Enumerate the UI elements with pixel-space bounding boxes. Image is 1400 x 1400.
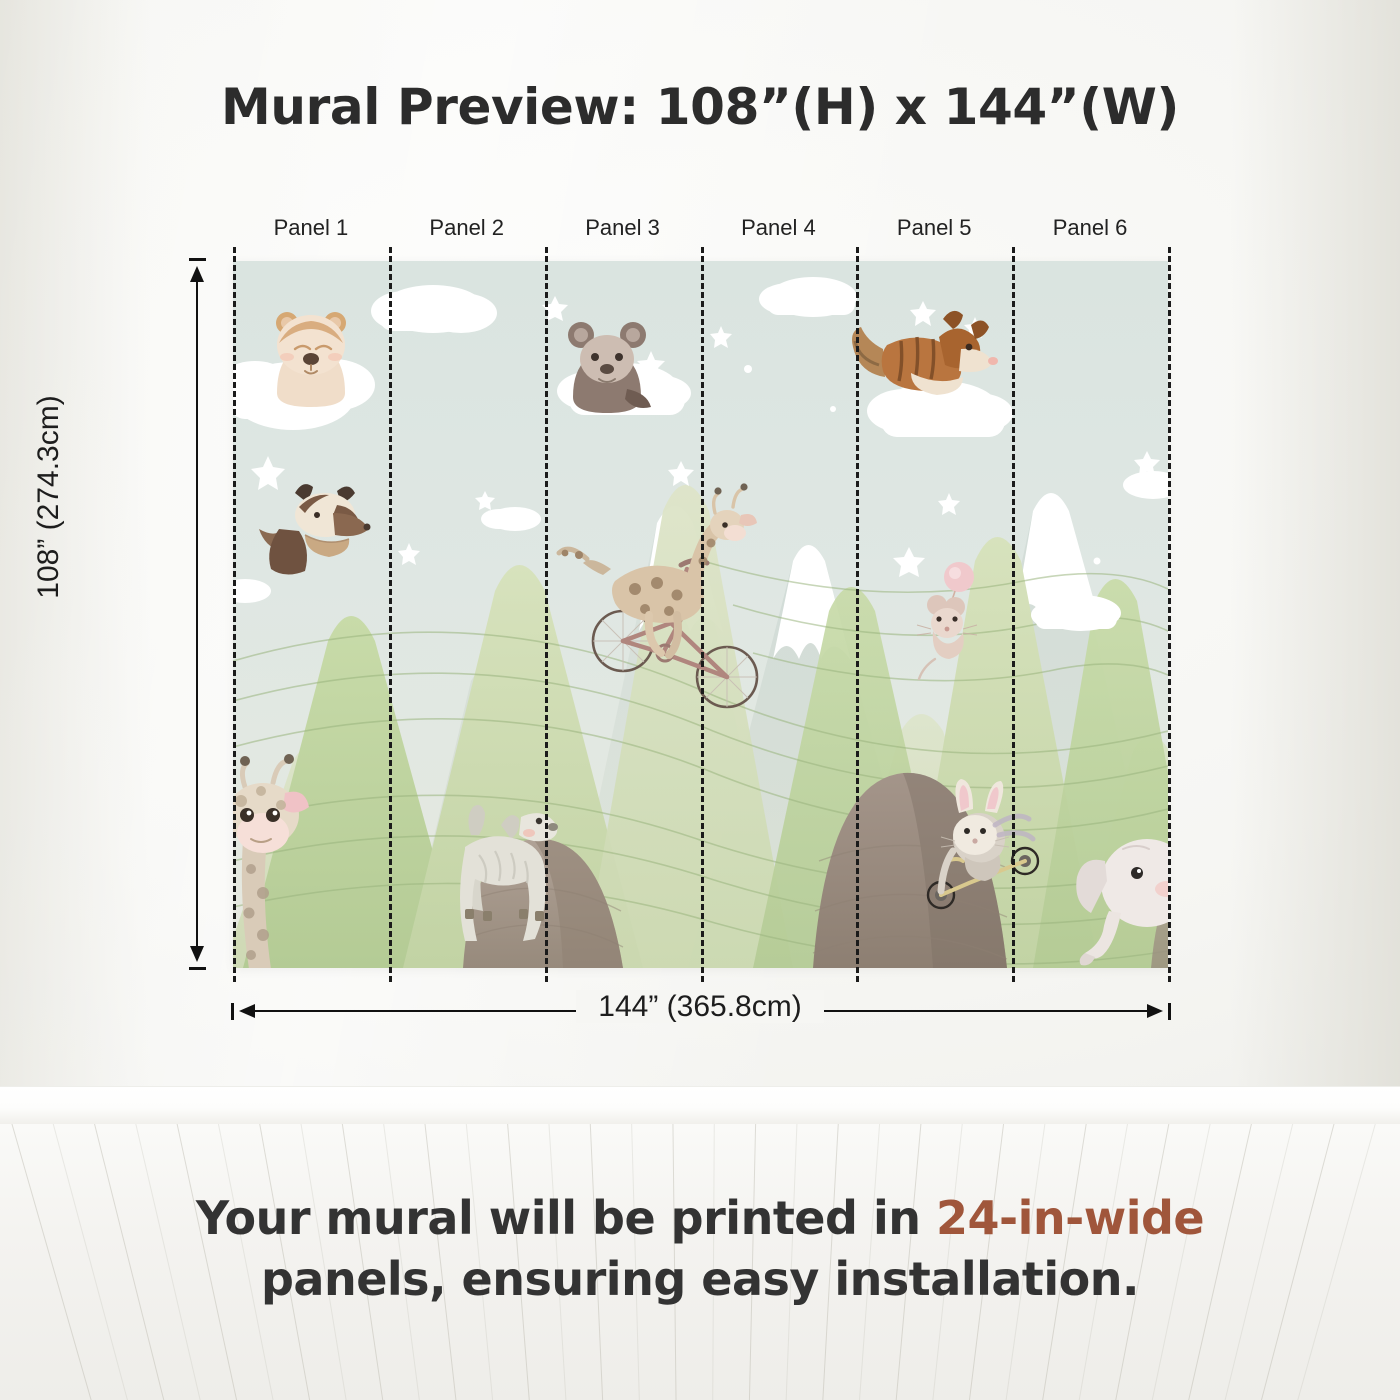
caption-line-1-prefix: Your mural will be printed in: [196, 1191, 936, 1245]
caption-line-2: panels, ensuring easy installation.: [0, 1249, 1400, 1310]
mural-edge-right: [1168, 247, 1171, 982]
panel-divider-2: [545, 247, 548, 982]
baseboard: [0, 1086, 1400, 1125]
panel-divider-5: [1012, 247, 1015, 982]
mural-preview[interactable]: [233, 261, 1168, 968]
width-dimension-label: 144” (365.8cm): [576, 990, 823, 1023]
height-cap-top: [189, 258, 206, 261]
page-title: Mural Preview: 108”(H) x 144”(W): [0, 78, 1400, 136]
caption-highlight: 24-in-wide: [936, 1191, 1204, 1245]
height-line: [196, 270, 198, 958]
panel-divider-1: [389, 247, 392, 982]
height-arrow-down-icon: [190, 946, 204, 962]
wall-shadow-left: [0, 0, 150, 1090]
mural-edge-left: [233, 247, 236, 982]
width-dimension-label-wrap: 144” (365.8cm): [0, 990, 1400, 1024]
panel-label-3: Panel 3: [545, 215, 701, 241]
panel-label-2: Panel 2: [389, 215, 545, 241]
panel-divider-3: [701, 247, 704, 982]
panel-label-6: Panel 6: [1012, 215, 1168, 241]
caption-line-1: Your mural will be printed in 24-in-wide: [0, 1188, 1400, 1249]
height-dimension-label: 108” (274.3cm): [32, 332, 66, 662]
height-dimension-line: [188, 258, 206, 970]
height-arrow-up-icon: [190, 266, 204, 282]
caption: Your mural will be printed in 24-in-wide…: [0, 1188, 1400, 1309]
height-cap-bottom: [189, 967, 206, 970]
panel-label-4: Panel 4: [701, 215, 857, 241]
panel-divider-4: [856, 247, 859, 982]
wall-shadow-right: [1230, 0, 1400, 1090]
panel-label-1: Panel 1: [233, 215, 389, 241]
panel-label-5: Panel 5: [856, 215, 1012, 241]
